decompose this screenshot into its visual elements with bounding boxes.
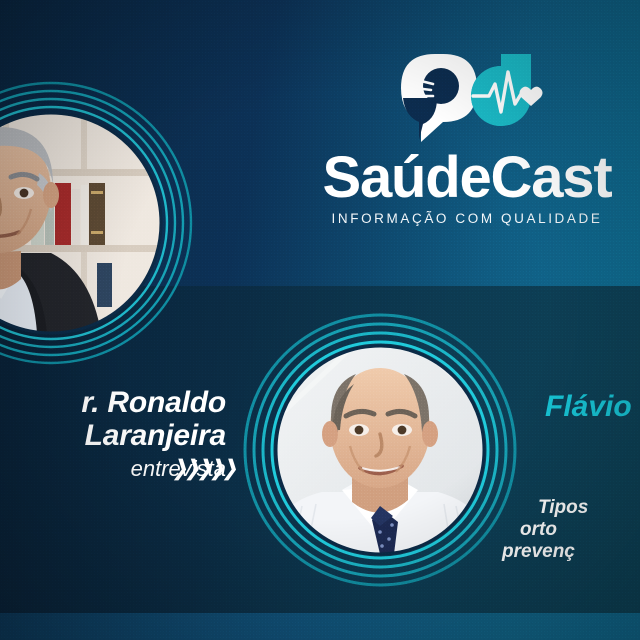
guest-left-ring-decoration: [0, 76, 198, 370]
guest-center-topic-line-1: Tipos: [538, 497, 640, 519]
forward-chevrons-icon: ❯❯❯❯❯: [173, 456, 235, 481]
guest-center-name-line-1: Flávio: [545, 390, 640, 424]
guest-center-topic: Tipos orto prevenç: [538, 497, 640, 563]
brand-wordmark: SaúdeCast: [317, 148, 617, 208]
guest-center-photo-circle: [243, 313, 517, 587]
guest-left-name-line-1: r. Ronaldo: [0, 386, 226, 419]
guest-center-topic-line-2: orto: [520, 519, 640, 541]
guest-center-ring-decoration: [243, 313, 517, 587]
speech-bubble-microphone-heartbeat-icon: [391, 52, 543, 146]
brand-tagline: INFORMAÇÃO COM QUALIDADE: [317, 211, 617, 226]
guest-center-topic-line-3: prevenç: [502, 541, 640, 563]
guest-center-caption: Flávio Tipos orto prevenç: [545, 390, 640, 424]
background-footer-band: [0, 613, 640, 640]
podcast-thumbnail-canvas: SaúdeCast INFORMAÇÃO COM QUALIDADE r. Ro…: [0, 0, 640, 640]
guest-left-name-line-2: Laranjeira: [0, 419, 226, 452]
guest-left-photo-circle: [0, 76, 198, 370]
brand-logo: SaúdeCast INFORMAÇÃO COM QUALIDADE: [317, 52, 617, 228]
